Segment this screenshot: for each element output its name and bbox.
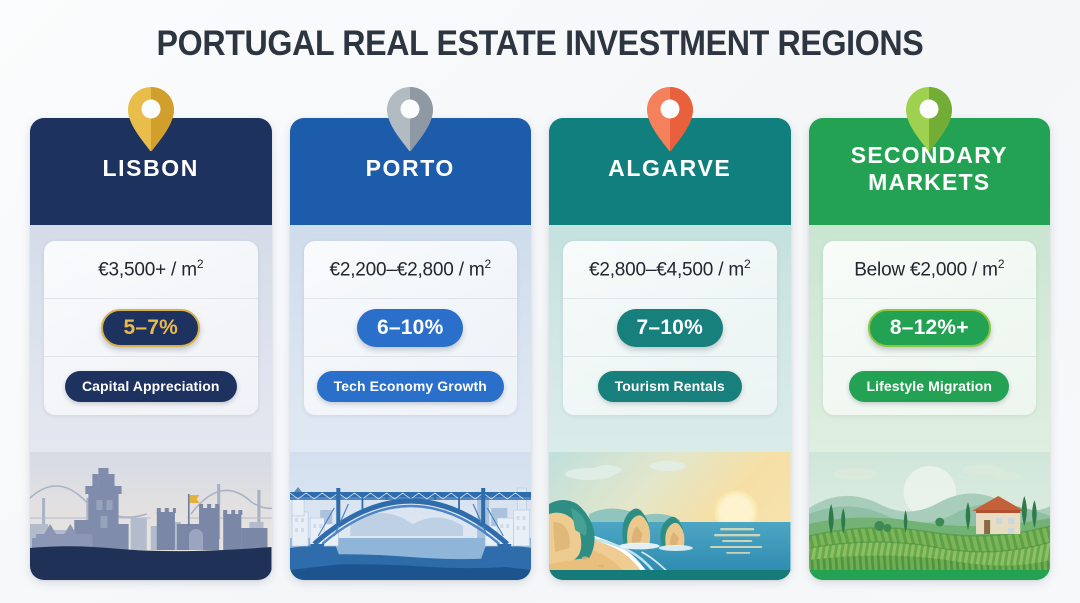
card-title: SECONDARYMARKETS [851,142,1008,196]
driver-badge[interactable]: Lifestyle Migration [849,371,1009,402]
card-body-algarve: €2,800–€4,500 / m2 7–10% Tourism Rentals [549,225,791,580]
page-header: PORTUGAL REAL ESTATE INVESTMENT REGIONS [0,24,1080,64]
driver-badge[interactable]: Tourism Rentals [598,371,742,402]
driver-row: Tech Economy Growth [304,357,518,415]
price-value: €2,200–€2,800 / m2 [329,257,491,281]
card-body-secondary-markets: Below €2,000 / m2 8–12%+ Lifestyle Migra… [809,225,1051,580]
region-card-lisbon[interactable]: LISBON €3,500+ / m2 5–7% Capital Appreci… [30,118,272,580]
card-body-porto: €2,200–€2,800 / m2 6–10% Tech Economy Gr… [290,225,532,580]
yield-badge[interactable]: 8–12%+ [868,309,991,347]
card-header-porto: PORTO [290,118,532,225]
card-title: PORTO [366,155,455,182]
card-title: ALGARVE [608,155,731,182]
driver-row: Tourism Rentals [563,357,777,415]
region-card-algarve[interactable]: ALGARVE €2,800–€4,500 / m2 7–10% Tourism… [549,118,791,580]
card-header-lisbon: LISBON [30,118,272,225]
stats-panel: €3,500+ / m2 5–7% Capital Appreciation [44,241,258,415]
driver-badge[interactable]: Capital Appreciation [65,371,237,402]
illustration-lisbon-skyline [30,452,272,580]
yield-row: 6–10% [304,299,518,357]
card-title: LISBON [103,155,200,182]
region-card-porto[interactable]: PORTO €2,200–€2,800 / m2 6–10% Tech Econ… [290,118,532,580]
driver-badge[interactable]: Tech Economy Growth [317,371,504,402]
page-title: PORTUGAL REAL ESTATE INVESTMENT REGIONS [43,24,1037,64]
stats-panel: €2,800–€4,500 / m2 7–10% Tourism Rentals [563,241,777,415]
stats-panel: €2,200–€2,800 / m2 6–10% Tech Economy Gr… [304,241,518,415]
price-row: €2,800–€4,500 / m2 [563,241,777,299]
price-value: €2,800–€4,500 / m2 [589,257,751,281]
price-row: €2,200–€2,800 / m2 [304,241,518,299]
card-header-algarve: ALGARVE [549,118,791,225]
yield-row: 8–12%+ [823,299,1037,357]
price-row: Below €2,000 / m2 [823,241,1037,299]
yield-badge[interactable]: 7–10% [617,309,723,347]
price-row: €3,500+ / m2 [44,241,258,299]
yield-row: 5–7% [44,299,258,357]
illustration-countryside-vineyard [809,452,1051,580]
illustration-porto-bridge [290,452,532,580]
driver-row: Capital Appreciation [44,357,258,415]
card-body-lisbon: €3,500+ / m2 5–7% Capital Appreciation [30,225,272,580]
stats-panel: Below €2,000 / m2 8–12%+ Lifestyle Migra… [823,241,1037,415]
yield-badge[interactable]: 5–7% [101,309,200,347]
region-card-grid: LISBON €3,500+ / m2 5–7% Capital Appreci… [30,118,1050,580]
driver-row: Lifestyle Migration [823,357,1037,415]
price-value: Below €2,000 / m2 [854,257,1004,281]
price-value: €3,500+ / m2 [98,257,203,281]
region-card-secondary-markets[interactable]: SECONDARYMARKETS Below €2,000 / m2 8–12%… [809,118,1051,580]
card-header-secondary-markets: SECONDARYMARKETS [809,118,1051,225]
illustration-algarve-coast [549,452,791,580]
yield-badge[interactable]: 6–10% [357,309,463,347]
yield-row: 7–10% [563,299,777,357]
